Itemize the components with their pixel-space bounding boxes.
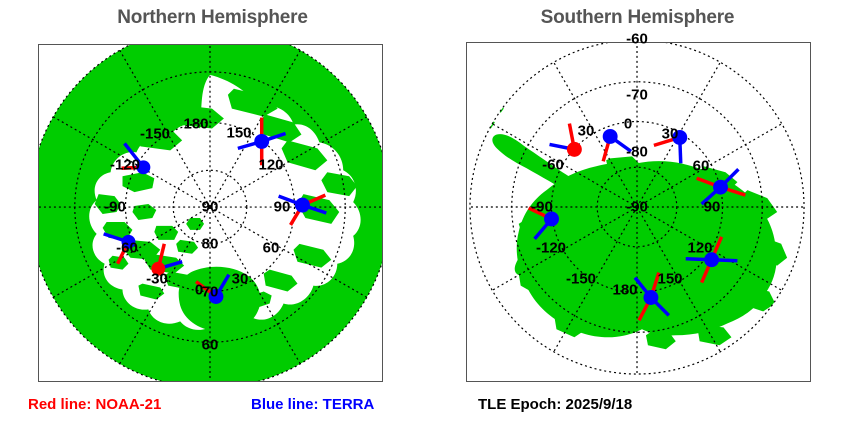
north-lon-label-n120: -120 xyxy=(110,158,140,173)
legend-footer: Red line: NOAA-21 Blue line: TERRA TLE E… xyxy=(0,396,850,421)
panel-northern-hemisphere: Northern Hemisphere xyxy=(0,0,425,425)
south-lon-label-n90: -90 xyxy=(531,200,553,215)
south-lat-label-n60: -60 xyxy=(626,32,648,47)
south-landmass xyxy=(469,105,787,350)
panel-southern-hemisphere: Southern Hemisphere xyxy=(425,0,850,425)
legend-blue-line-terra: Blue line: TERRA xyxy=(251,396,374,413)
south-lon-label-90: 90 xyxy=(704,200,721,215)
north-lon-label-150: 150 xyxy=(226,126,251,141)
legend-red-line-noaa21: Red line: NOAA-21 xyxy=(28,396,161,413)
south-lon-label-180: 180 xyxy=(612,283,637,298)
north-lon-label-120: 120 xyxy=(258,158,283,173)
north-lon-label-n60: -60 xyxy=(116,241,138,256)
south-lon-label-n60: -60 xyxy=(542,158,564,173)
legend-tle-epoch: TLE Epoch: 2025/9/18 xyxy=(478,396,632,413)
south-lon-label-0: 0 xyxy=(624,117,632,132)
north-lon-label-30: 30 xyxy=(232,272,249,287)
south-lon-label-30: 30 xyxy=(662,127,679,142)
north-lon-label-n30: -30 xyxy=(146,272,168,287)
panel-title-southern: Southern Hemisphere xyxy=(425,7,850,29)
panel-title-northern: Northern Hemisphere xyxy=(0,7,425,29)
south-lon-label-n30: 30 xyxy=(578,124,595,139)
south-lon-label-n150: -150 xyxy=(566,272,596,287)
south-lon-label-60: 60 xyxy=(693,159,710,174)
north-lat-label-60: 60 xyxy=(202,338,219,353)
north-lat-label-70: 70 xyxy=(202,285,219,300)
north-lon-label-n90: -90 xyxy=(104,200,126,215)
north-lon-label-n150: -150 xyxy=(140,127,170,142)
south-lat-label-n80: -80 xyxy=(626,145,648,160)
south-lon-label-n120: -120 xyxy=(536,241,566,256)
south-lon-label-120: 120 xyxy=(687,241,712,256)
figure-canvas: Northern Hemisphere xyxy=(0,0,850,425)
south-lat-label-n70: -70 xyxy=(626,88,648,103)
north-lat-label-80: 80 xyxy=(202,237,219,252)
south-lat-label-n90: -90 xyxy=(626,200,648,215)
north-lon-label-180: 180 xyxy=(183,117,208,132)
north-lat-label-90: 90 xyxy=(202,200,219,215)
south-lon-label-150: 150 xyxy=(657,272,682,287)
north-lon-label-90: 90 xyxy=(274,200,291,215)
north-lon-label-60: 60 xyxy=(263,241,280,256)
